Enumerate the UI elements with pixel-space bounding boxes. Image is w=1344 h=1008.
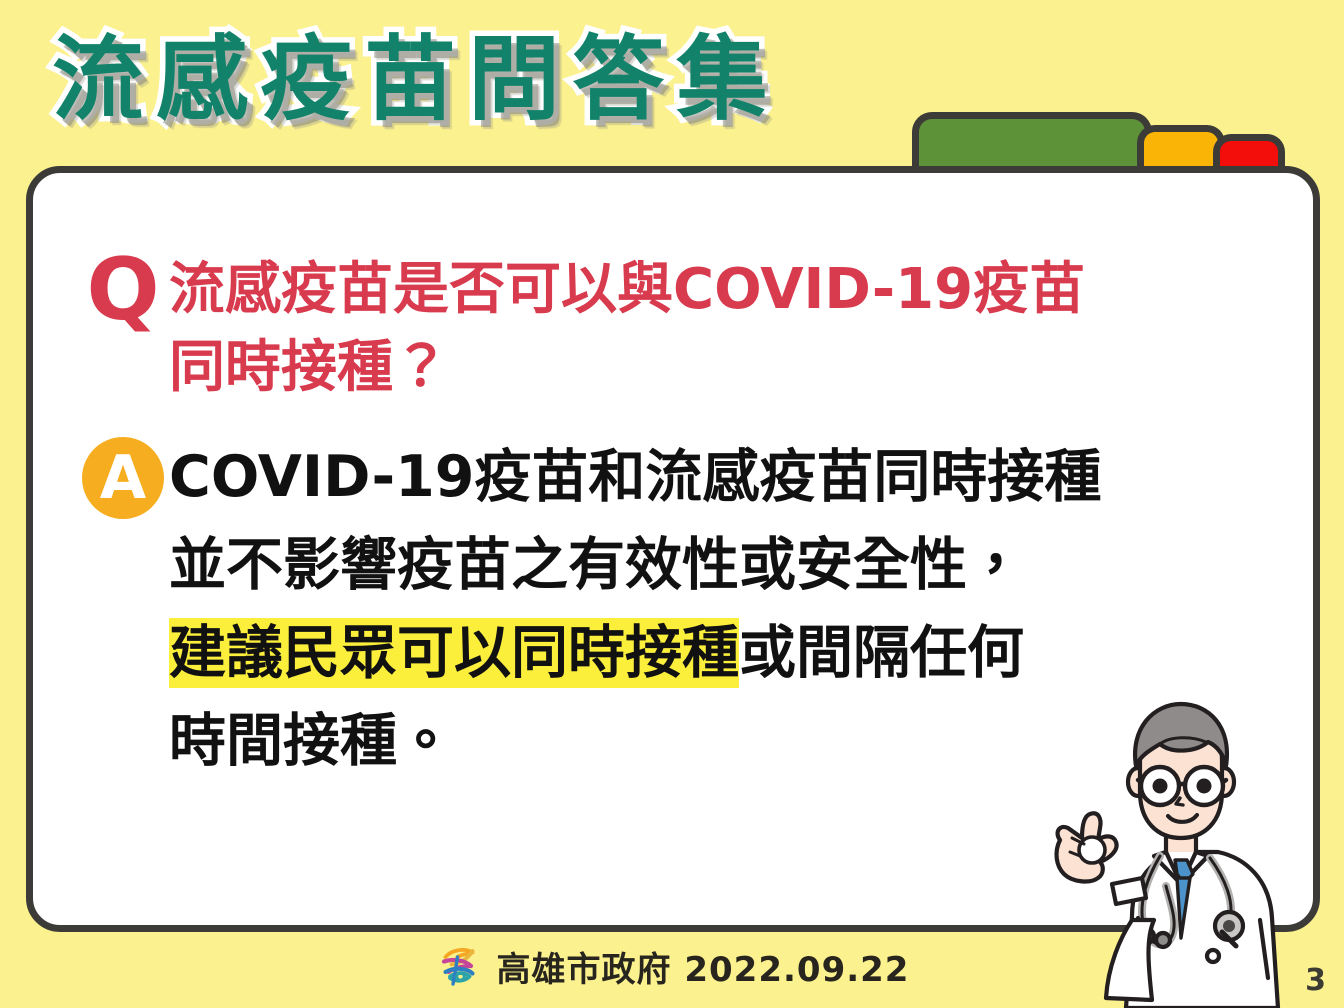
footer: 高雄市政府 2022.09.22 [0,938,1344,994]
content-card: Q 流感疫苗是否可以與COVID-19疫苗 同時接種？ A COVID-19疫苗… [26,166,1320,932]
answer-text: COVID-19疫苗和流感疫苗同時接種 並不影響疫苗之有效性或安全性， 建議民眾… [169,433,1273,785]
question-row: Q 流感疫苗是否可以與COVID-19疫苗 同時接種？ [77,245,1273,407]
question-line: 流感疫苗是否可以與COVID-19疫苗 [169,251,1273,329]
page-number: 3 [1305,963,1326,998]
kaohsiung-city-logo-icon [435,942,483,990]
qa-block: Q 流感疫苗是否可以與COVID-19疫苗 同時接種？ A COVID-19疫苗… [77,245,1273,785]
answer-plain-text: 時間接種。 [169,708,454,774]
answer-line: 建議民眾可以同時接種或間隔任何 [169,609,1273,697]
answer-row: A COVID-19疫苗和流感疫苗同時接種 並不影響疫苗之有效性或安全性， 建議… [77,433,1273,785]
question-line: 同時接種？ [169,329,1273,407]
answer-badge-icon: A [82,437,164,519]
answer-line: 並不影響疫苗之有效性或安全性， [169,521,1273,609]
answer-highlighted-text: 建議民眾可以同時接種 [169,618,739,688]
answer-plain-text: COVID-19疫苗和流感疫苗同時接種 [169,444,1101,510]
page-title: 流感疫苗問答集 [52,18,952,142]
footer-text: 高雄市政府 2022.09.22 [497,942,910,991]
answer-badge-container: A [77,433,169,519]
question-badge-icon: Q [77,245,169,333]
title-container: 流感疫苗問答集 [52,18,952,150]
slide-canvas: 流感疫苗問答集 Q 流感疫苗是否可以與COVID-19疫苗 同時接種？ A [0,0,1344,1008]
question-text: 流感疫苗是否可以與COVID-19疫苗 同時接種？ [169,245,1273,407]
answer-plain-text: 並不影響疫苗之有效性或安全性， [169,532,1024,598]
answer-line: 時間接種。 [169,697,1273,785]
answer-line: COVID-19疫苗和流感疫苗同時接種 [169,433,1273,521]
answer-plain-text: 或間隔任何 [739,620,1024,686]
